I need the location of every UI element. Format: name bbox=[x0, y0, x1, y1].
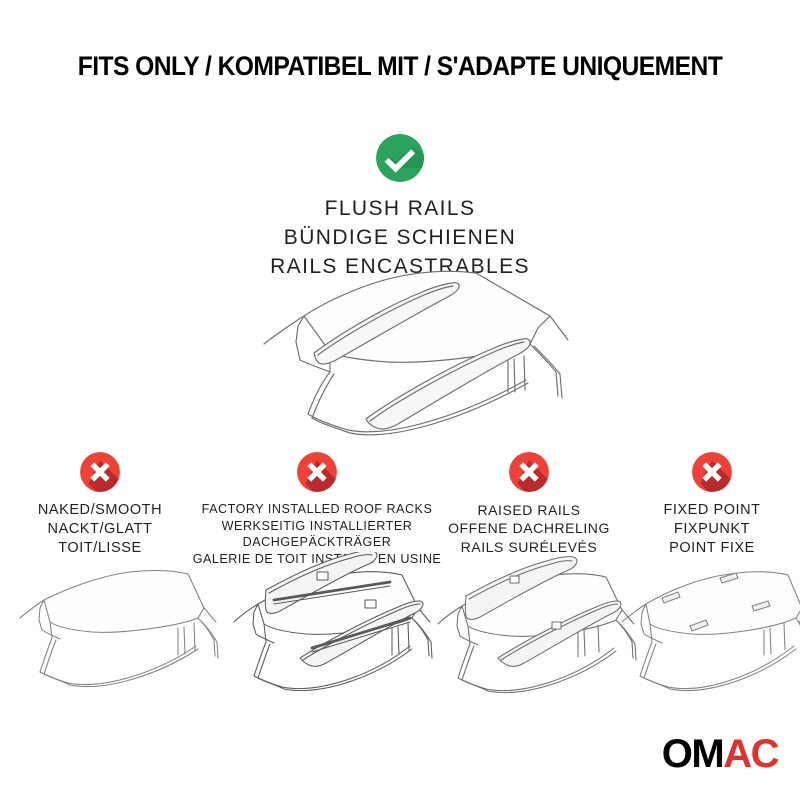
rejected-label-de: NACKT/GLATT bbox=[38, 520, 162, 539]
rejected-labels: RAISED RAILS OFFENE DACHRELING RAILS SUR… bbox=[448, 501, 610, 556]
rejected-labels: NAKED/SMOOTH NACKT/GLATT TOIT/LISSE bbox=[38, 501, 162, 558]
x-circle-icon bbox=[509, 452, 549, 492]
rejected-label-de: FIXPUNKT bbox=[663, 520, 760, 539]
rejected-label-de2: DACHGEPÄCKTRÄGER bbox=[193, 534, 442, 551]
car-roof-naked-smooth-illustration bbox=[8, 560, 220, 702]
rejected-label-en: FACTORY INSTALLED ROOF RACKS bbox=[193, 501, 442, 518]
logo-text-om: OM bbox=[662, 734, 723, 774]
check-circle-icon bbox=[376, 134, 424, 182]
logo-text-ac: AC bbox=[723, 734, 778, 774]
page-title: FITS ONLY / KOMPATIBEL MIT / S'ADAPTE UN… bbox=[28, 52, 772, 81]
x-circle-icon bbox=[692, 452, 732, 492]
car-roof-flush-rails-illustration bbox=[238, 268, 586, 454]
car-roof-fixed-point-illustration bbox=[614, 556, 800, 706]
rejected-item-factory-racks: FACTORY INSTALLED ROOF RACKS WERKSEITIG … bbox=[200, 452, 434, 567]
rejected-section: NAKED/SMOOTH NACKT/GLATT TOIT/LISSE FACT… bbox=[0, 452, 800, 567]
rejected-label-en: RAISED RAILS bbox=[448, 501, 610, 519]
car-roof-factory-racks-illustration bbox=[214, 552, 440, 702]
rejected-label-de: WERKSEITIG INSTALLIERTER bbox=[193, 518, 442, 535]
x-circle-icon bbox=[80, 452, 120, 492]
rejected-label-fr: RAILS SURÉLEVÉS bbox=[448, 538, 610, 556]
approved-label-de: BÜNDIGE SCHIENEN bbox=[270, 224, 530, 253]
rejected-label-en: FIXED POINT bbox=[663, 501, 760, 520]
compatibility-infographic: FITS ONLY / KOMPATIBEL MIT / S'ADAPTE UN… bbox=[0, 0, 800, 800]
rejected-labels: FIXED POINT FIXPUNKT POINT FIXE bbox=[663, 501, 760, 558]
car-roof-raised-rails-illustration bbox=[422, 556, 638, 704]
omac-logo: OMAC bbox=[662, 734, 778, 774]
x-circle-icon bbox=[297, 452, 337, 492]
rejected-item-raised-rails: RAISED RAILS OFFENE DACHRELING RAILS SUR… bbox=[434, 452, 624, 556]
rejected-item-naked-smooth: NAKED/SMOOTH NACKT/GLATT TOIT/LISSE bbox=[0, 452, 200, 558]
rejected-label-fr: TOIT/LISSE bbox=[38, 539, 162, 558]
approved-section: FLUSH RAILS BÜNDIGE SCHIENEN RAILS ENCAS… bbox=[0, 134, 800, 282]
rejected-item-fixed-point: FIXED POINT FIXPUNKT POINT FIXE bbox=[624, 452, 800, 558]
approved-label-en: FLUSH RAILS bbox=[270, 195, 530, 224]
rejected-label-en: NAKED/SMOOTH bbox=[38, 501, 162, 520]
rejected-label-de: OFFENE DACHRELING bbox=[448, 519, 610, 537]
